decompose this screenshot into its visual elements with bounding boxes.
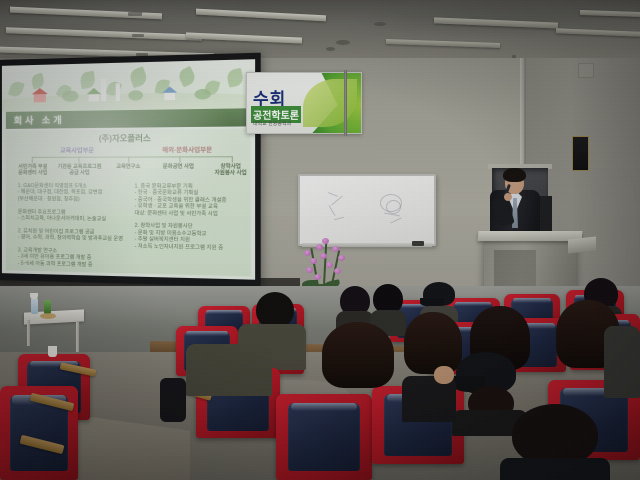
torso bbox=[186, 344, 272, 396]
house-roof bbox=[87, 88, 101, 94]
green-bottle bbox=[44, 300, 51, 314]
orchid-bloom bbox=[332, 246, 339, 252]
orchid-bloom bbox=[334, 268, 341, 274]
paper-cup bbox=[30, 293, 38, 299]
leaf-icon bbox=[8, 80, 25, 98]
group-label-right: 해외·문화사업부문 bbox=[162, 145, 212, 155]
lecture-hall-photo: 회사 소개 (주)자오플러스 교육사업부문 해외·문화사업부문 서민가족 부설 … bbox=[0, 0, 640, 480]
chair-highlight bbox=[291, 403, 356, 412]
org-connector bbox=[179, 156, 180, 162]
snack-plate bbox=[40, 313, 56, 319]
orchid-bloom bbox=[316, 244, 323, 250]
slide-header-illustration bbox=[2, 59, 255, 112]
head bbox=[256, 292, 294, 328]
house-body bbox=[34, 93, 46, 102]
whiteboard-mark bbox=[386, 200, 401, 214]
org-node: 창학사업 자원봉사 사업 bbox=[205, 164, 250, 177]
leaf-icon bbox=[226, 68, 245, 88]
org-node: 서민가족 부설 문화센터 사업 bbox=[10, 164, 56, 176]
ceiling-vent bbox=[132, 34, 144, 37]
orchid-bloom bbox=[310, 258, 317, 264]
slide-left-column: 1. G&O문화센터 직영점포 5개소 - 해운대, 대구점, 대전점, 목포점… bbox=[18, 183, 126, 269]
slide-subtitle: (주)자오플러스 bbox=[6, 132, 251, 145]
lectern-side-shelf bbox=[568, 237, 596, 254]
org-node: 교육연구소 bbox=[105, 164, 151, 170]
banner-pole bbox=[344, 70, 347, 136]
leaf-icon bbox=[30, 73, 45, 90]
water-bottle bbox=[31, 298, 38, 314]
leaf-icon bbox=[176, 66, 197, 88]
orchid-bloom bbox=[338, 255, 345, 261]
hand bbox=[434, 366, 454, 384]
torso bbox=[500, 458, 610, 480]
audience-member bbox=[402, 360, 458, 420]
group-label-left: 교육사업부문 bbox=[60, 145, 94, 154]
projected-slide: 회사 소개 (주)자오플러스 교육사업부문 해외·문화사업부문 서민가족 부설 … bbox=[2, 59, 255, 280]
ceiling-sensor bbox=[326, 47, 335, 51]
org-node: 기관용 교육프로그램 공급 사업 bbox=[56, 164, 103, 176]
audience-member bbox=[186, 334, 272, 394]
torso bbox=[604, 326, 640, 398]
audience-member bbox=[604, 326, 640, 396]
orchid-bloom bbox=[322, 238, 329, 244]
wall-speaker-icon bbox=[572, 136, 589, 171]
tower-icon bbox=[101, 79, 106, 102]
banner-line-3: 대학교 한양공학과 bbox=[253, 120, 291, 127]
projection-screen: 회사 소개 (주)자오플러스 교육사업부문 해외·문화사업부문 서민가족 부설 … bbox=[0, 53, 261, 288]
whiteboard-mark bbox=[329, 205, 336, 216]
house-icon bbox=[162, 86, 177, 100]
ceiling-sensor bbox=[336, 40, 350, 45]
orchid-bloom bbox=[320, 253, 327, 259]
orchid-bloom bbox=[304, 250, 311, 256]
presenter-hand bbox=[504, 193, 512, 201]
slide-body: (주)자오플러스 교육사업부문 해외·문화사업부문 서민가족 부설 문화센터 사… bbox=[6, 128, 251, 276]
whiteboard-mark bbox=[331, 196, 342, 206]
house-body bbox=[164, 92, 175, 101]
presenter-hair bbox=[503, 168, 526, 182]
org-connector bbox=[32, 157, 33, 163]
org-connector bbox=[232, 156, 233, 162]
chair-seat-pad bbox=[288, 403, 359, 472]
org-node: 문화공연 사업 bbox=[154, 164, 204, 170]
slide-right-column: 1. 중국 문화교류부문 기획 - 한국 · 중국문화교류 기획실 - 중국어 … bbox=[135, 183, 251, 252]
boot bbox=[160, 378, 186, 422]
whiteboard-eraser bbox=[412, 241, 424, 246]
house-roof bbox=[32, 88, 48, 94]
wall-mounted-box bbox=[578, 63, 594, 78]
house-roof bbox=[162, 86, 177, 93]
org-connector bbox=[32, 156, 232, 158]
audience-member bbox=[500, 404, 610, 480]
table-leg bbox=[27, 320, 30, 346]
org-connector bbox=[128, 157, 129, 163]
chair-highlight bbox=[513, 298, 551, 302]
audience-member bbox=[160, 378, 190, 422]
house-icon bbox=[32, 88, 48, 102]
hair bbox=[322, 322, 394, 388]
chair-highlight bbox=[206, 310, 241, 314]
house-icon bbox=[87, 88, 101, 102]
table-leg bbox=[76, 322, 79, 352]
whiteboard-mark bbox=[384, 213, 400, 217]
ceiling-sensor bbox=[374, 22, 386, 26]
whiteboard-mark bbox=[328, 192, 338, 197]
orchid-bloom bbox=[326, 262, 333, 268]
leaf-icon bbox=[128, 66, 149, 88]
whiteboard-mark bbox=[334, 217, 344, 221]
orchid-bloom bbox=[306, 267, 313, 273]
tower-icon bbox=[116, 83, 120, 101]
lectern-top bbox=[477, 231, 582, 241]
audience-member bbox=[322, 322, 396, 392]
chair[interactable] bbox=[276, 394, 372, 480]
whiteboard-mark bbox=[390, 218, 401, 224]
ceiling-vent bbox=[128, 12, 142, 16]
paper-cup bbox=[48, 346, 57, 357]
slide-title: 회사 소개 bbox=[14, 112, 65, 129]
house-body bbox=[89, 93, 99, 101]
org-connector bbox=[78, 157, 79, 163]
leaf-icon bbox=[79, 71, 96, 89]
head bbox=[512, 404, 598, 466]
